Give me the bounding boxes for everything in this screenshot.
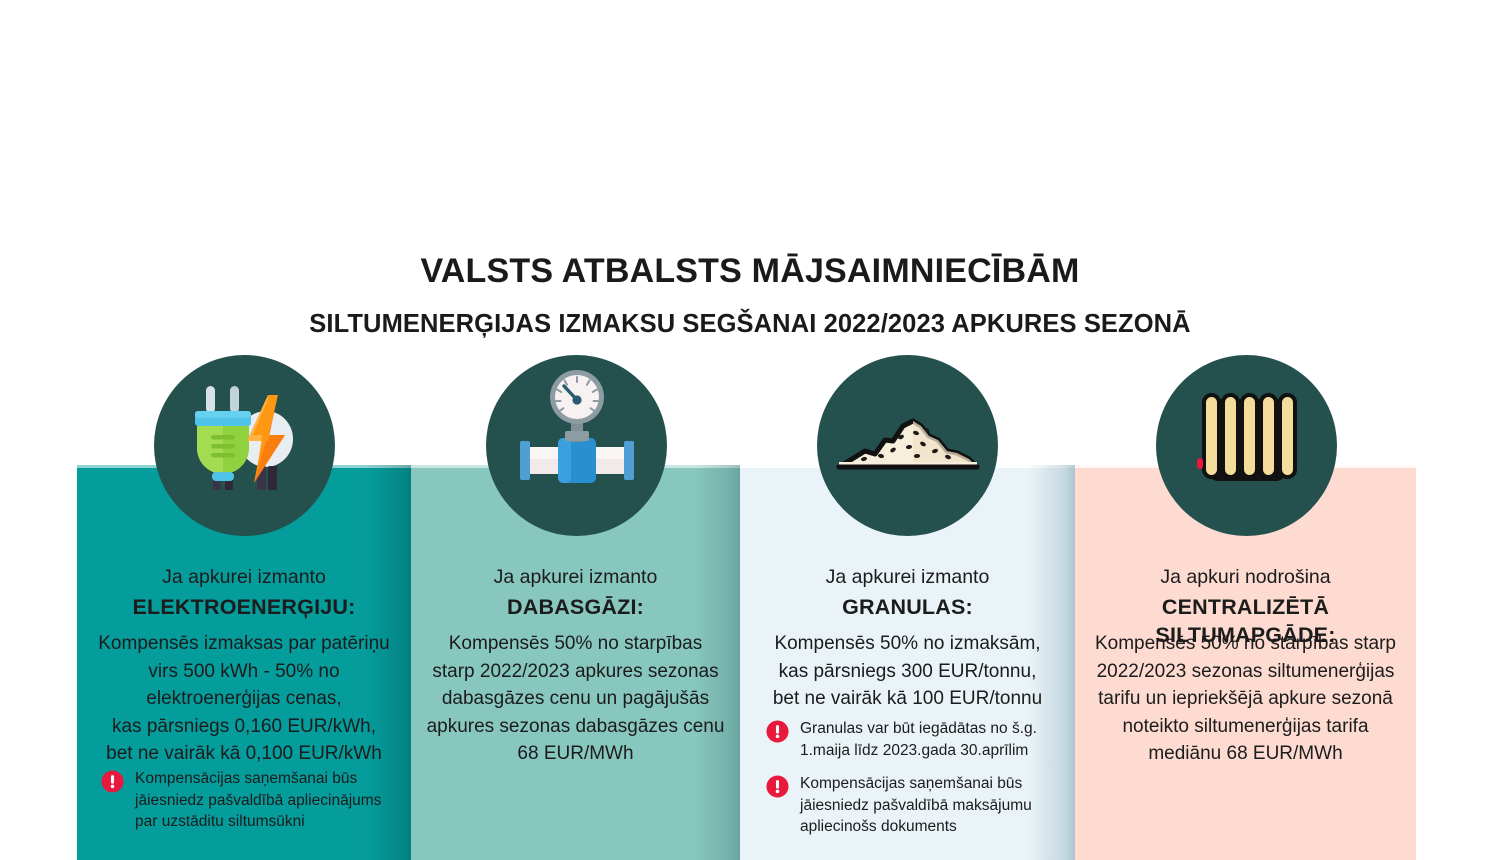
notes-list-pellets: Granulas var būt iegādātas no š.g. 1.mai…: [740, 718, 1075, 850]
column-body-pellets: Kompensēs 50% no izmaksām, kas pārsniegs…: [740, 630, 1075, 713]
column-body-natural-gas: Kompensēs 50% no starpības starp 2022/20…: [411, 630, 740, 768]
column-lead-text: Ja apkurei izmanto: [162, 566, 326, 588]
column-body-electricity: Kompensēs izmaksas par patēriņu virs 500…: [77, 630, 411, 768]
note-item: Granulas var būt iegādātas no š.g. 1.mai…: [766, 718, 1057, 761]
icon-badge-district-heating: [1156, 355, 1337, 536]
column-body-district-heating: Kompensēs 50% no starpības starp 2022/20…: [1075, 630, 1416, 768]
column-lead-text: Ja apkurei izmanto: [826, 566, 990, 588]
column-lead-text: Ja apkuri nodrošina: [1160, 566, 1330, 588]
note-text: Kompensācijas saņemšanai būs jāiesniedz …: [135, 768, 381, 833]
icon-badge-natural-gas: [486, 355, 667, 536]
icon-badge-electricity: [154, 355, 335, 536]
column-lead-strong: ELEKTROENERĢIJU:: [91, 593, 397, 621]
note-text: Kompensācijas saņemšanai būs jāiesniedz …: [800, 773, 1032, 838]
column-lead-text: Ja apkurei izmanto: [494, 566, 658, 588]
note-text: Granulas var būt iegādātas no š.g. 1.mai…: [800, 718, 1037, 761]
column-heading-electricity: Ja apkurei izmanto ELEKTROENERĢIJU:: [77, 563, 411, 621]
alert-exclamation-icon: [101, 770, 124, 793]
column-lead-strong: DABASGĀZI:: [425, 593, 726, 621]
note-item: Kompensācijas saņemšanai būs jāiesniedz …: [101, 768, 393, 833]
gas-pipe-gauge-icon: [486, 355, 667, 536]
alert-exclamation-icon: [766, 775, 789, 798]
radiator-icon: [1156, 355, 1337, 536]
column-heading-natural-gas: Ja apkurei izmanto DABASGĀZI:: [411, 563, 740, 621]
note-item: Kompensācijas saņemšanai būs jāiesniedz …: [766, 773, 1057, 838]
icon-badge-pellets: [817, 355, 998, 536]
column-lead-strong: GRANULAS:: [754, 593, 1061, 621]
alert-exclamation-icon: [766, 720, 789, 743]
pellet-pile-icon: [817, 355, 998, 536]
infographic-canvas: VALSTS ATBALSTS MĀJSAIMNIECĪBĀM SILTUMEN…: [0, 0, 1500, 860]
plug-lightning-icon: [154, 355, 335, 536]
notes-list-electricity: Kompensācijas saņemšanai būs jāiesniedz …: [77, 768, 411, 845]
column-heading-pellets: Ja apkurei izmanto GRANULAS:: [740, 563, 1075, 621]
